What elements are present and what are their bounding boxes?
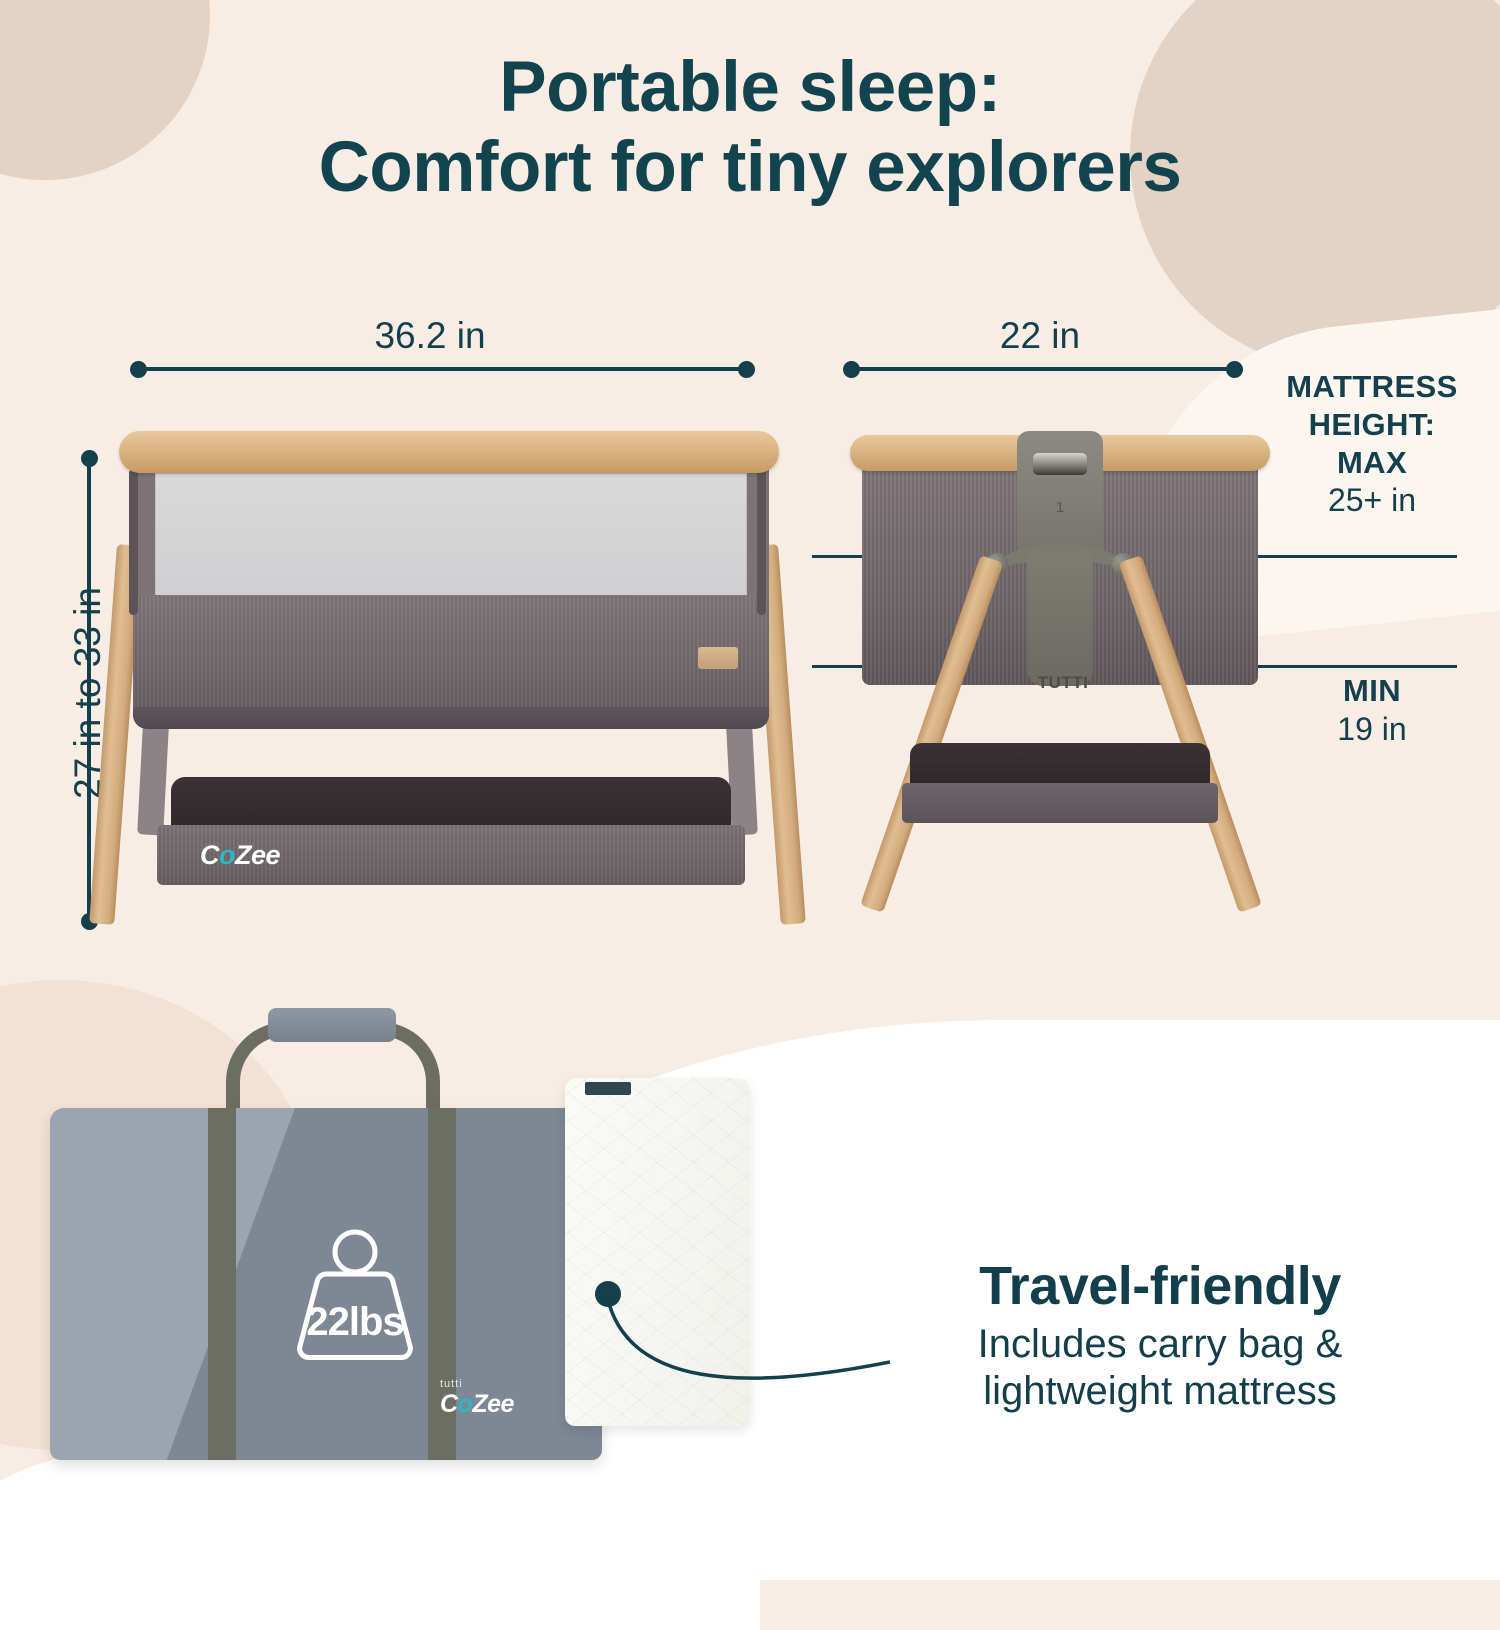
travel-friendly-block: Travel-friendly Includes carry bag & lig…: [860, 1255, 1460, 1415]
zipper-right: [757, 469, 766, 615]
page-title: Portable sleep: Comfort for tiny explore…: [0, 48, 1500, 208]
leather-brand-tab: [698, 647, 738, 669]
bag-handle-grip: [268, 1008, 396, 1042]
bassinet-body-base: [133, 707, 769, 729]
dimension-line-width-front: [135, 367, 750, 371]
dimension-line-width-side: [848, 367, 1238, 371]
cozee-wordmark-bag: CoZee: [440, 1390, 514, 1419]
travel-subtitle: Includes carry bag & lightweight mattres…: [860, 1321, 1460, 1415]
product-image-side-view: 1 TUTTI: [840, 425, 1280, 945]
tutti-brand-small: tutti: [440, 1378, 514, 1390]
cozee-logo-tail: Zee: [235, 840, 280, 870]
mattress-label-line-2: HEIGHT:: [1272, 406, 1472, 444]
cozee-logo-o: o: [219, 840, 235, 870]
mesh-panel: [155, 473, 747, 603]
bag-strap-left: [208, 1108, 236, 1460]
bag-logo-o: o: [458, 1390, 473, 1418]
cozee-logo-text: C: [200, 840, 219, 870]
mechanism-stem: [1027, 551, 1093, 686]
mattress-height-max-value: 25+ in: [1272, 481, 1472, 520]
mattress-height-max-label: MATTRESS HEIGHT: MAX 25+ in: [1272, 368, 1472, 520]
product-image-front-view: CoZee: [95, 425, 800, 945]
cozee-logo-front: CoZee: [200, 840, 280, 871]
mattress-label-line-3: MAX: [1272, 444, 1472, 482]
page-title-line-1: Portable sleep:: [0, 48, 1500, 128]
mechanism-number-badge: 1: [1046, 497, 1074, 519]
dimension-label-width-front: 36.2 in: [240, 315, 620, 357]
mattress-brand-tag: [585, 1082, 631, 1095]
bag-logo-c: C: [440, 1390, 458, 1418]
wood-top-rail: [119, 431, 779, 473]
cozee-logo-bag: tutti CoZee: [440, 1378, 514, 1419]
height-adjust-mechanism: [1017, 431, 1103, 556]
page-title-line-2: Comfort for tiny explorers: [0, 128, 1500, 208]
mattress-min-label: MIN: [1272, 672, 1472, 710]
weight-icon: 22lbs: [280, 1228, 430, 1368]
zipper-left: [129, 469, 138, 615]
bassinet-fabric-body: [133, 595, 769, 725]
storage-basket-rim-side: [902, 783, 1218, 823]
travel-subtitle-line-2: lightweight mattress: [860, 1368, 1460, 1415]
travel-title: Travel-friendly: [860, 1255, 1460, 1317]
travel-subtitle-line-1: Includes carry bag &: [860, 1321, 1460, 1368]
tutti-logo-side: TUTTI: [1016, 673, 1110, 693]
carry-bag-image: 22lbs tutti CoZee: [40, 1000, 640, 1470]
weight-value: 22lbs: [280, 1300, 430, 1345]
bag-logo-zee: Zee: [472, 1390, 514, 1418]
infographic-canvas: Portable sleep: Comfort for tiny explore…: [0, 0, 1500, 1500]
mattress-label-line-1: MATTRESS: [1272, 368, 1472, 406]
dimension-label-width-side: 22 in: [880, 315, 1200, 357]
mattress-height-min-value: 19 in: [1272, 710, 1472, 749]
mattress-height-min-label: MIN 19 in: [1272, 672, 1472, 749]
height-adjust-slot: [1033, 453, 1087, 475]
